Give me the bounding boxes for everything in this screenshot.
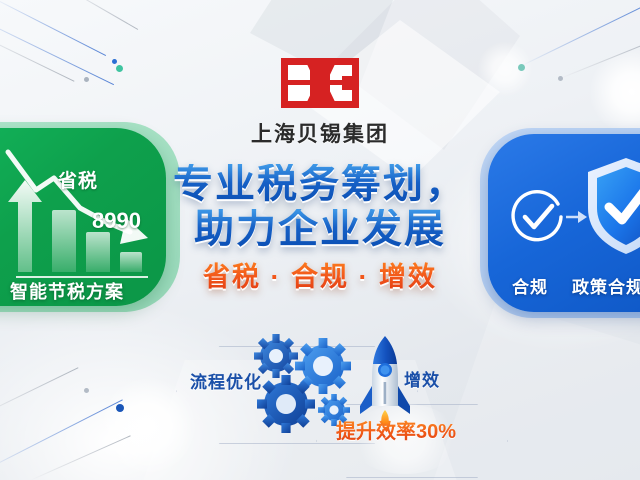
efficiency-boost-label: 增效	[404, 366, 440, 391]
sub-slogan: 省税 · 合规 · 增效	[0, 255, 640, 294]
bg-line-4	[60, 0, 138, 30]
company-name: 上海贝锡集团	[0, 118, 640, 148]
bottom-feature-row: 流程优化	[0, 330, 640, 450]
bg-line-1	[0, 0, 106, 56]
headline-block: 专业税务筹划， 助力企业发展 省税 · 合规 · 增效	[0, 164, 640, 294]
headline-line-2: 助力企业发展	[0, 209, 640, 249]
efficiency-rate-label: 提升效率30%	[336, 415, 456, 444]
poster-canvas: 省税 8990 智能节税方案	[0, 0, 640, 480]
headline-line-1: 专业税务筹划，	[0, 164, 640, 204]
beixi-square-logo-icon	[281, 58, 359, 108]
brand-block: 上海贝锡集团	[0, 58, 640, 148]
